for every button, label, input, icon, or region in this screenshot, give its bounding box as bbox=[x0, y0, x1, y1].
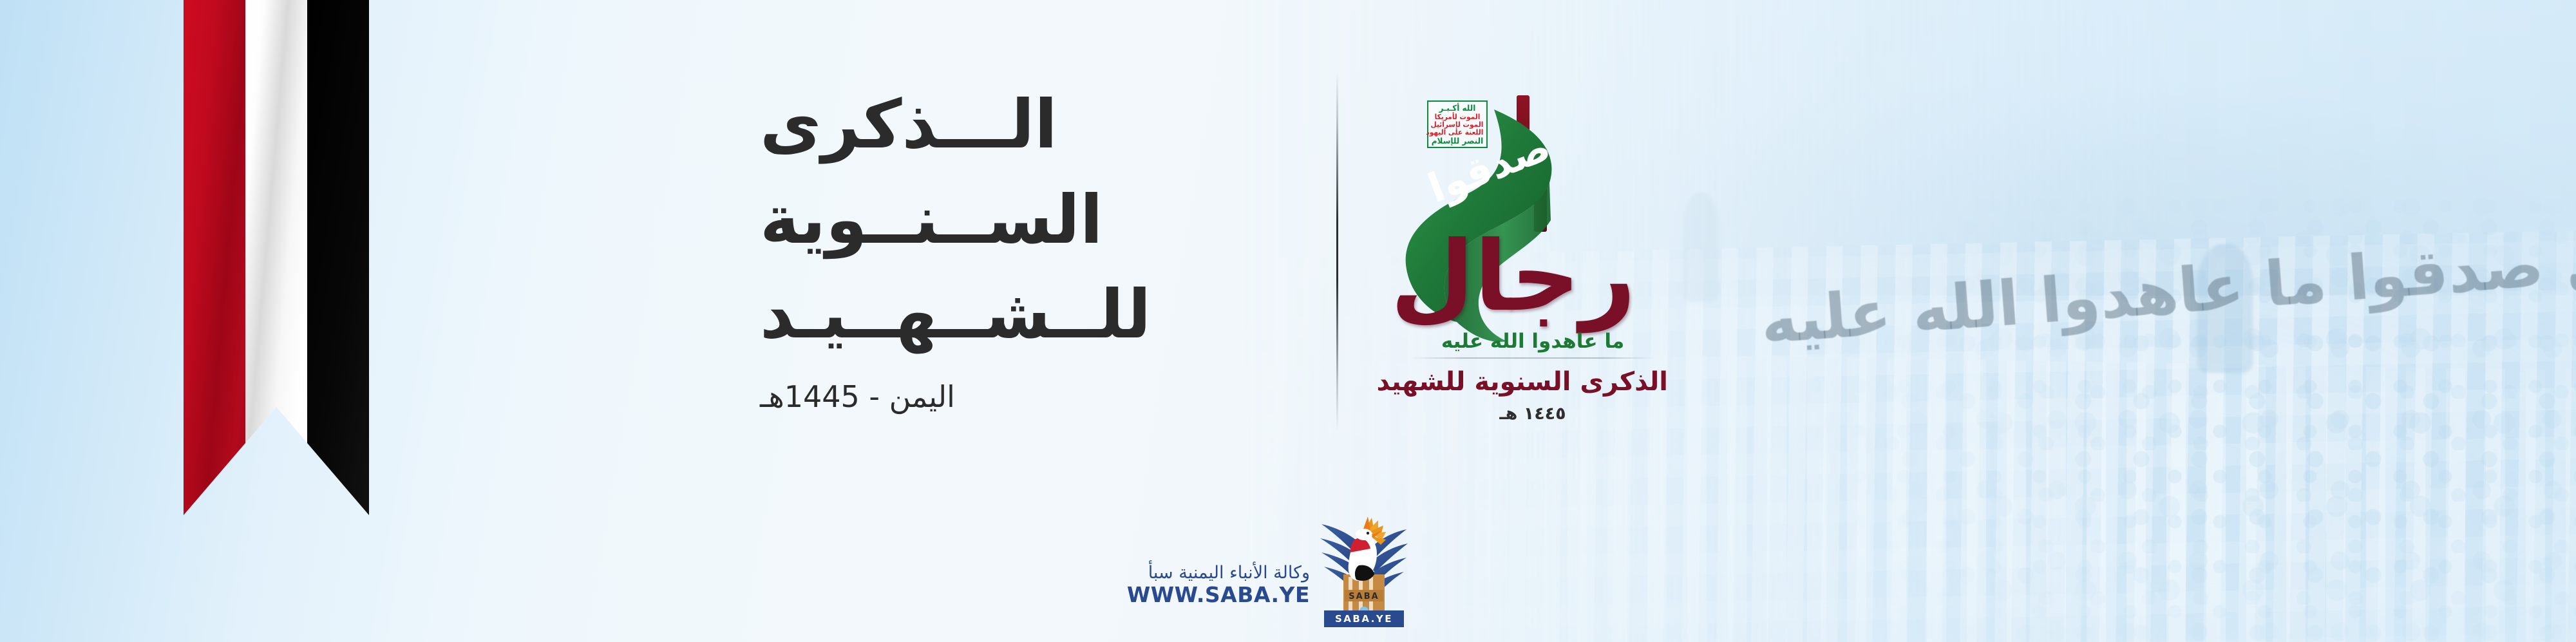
vertical-divider bbox=[1336, 71, 1338, 431]
saba-bird-mark-icon: SABA SABA.Y bbox=[1319, 513, 1409, 628]
headline-line-1: الـــذكرى bbox=[760, 77, 1288, 173]
flag-band-black bbox=[307, 0, 369, 515]
headline-line-3: للــشــهــيـد bbox=[760, 267, 1288, 363]
headline-subtitle: اليمن - 1445هـ bbox=[760, 379, 1288, 414]
headline-block: الـــذكرى الســنــوية للــشــهــيـد اليم… bbox=[760, 77, 1288, 414]
photo-foliage bbox=[1805, 193, 2576, 642]
emblem-title: الذكرى السنوية للشهيد bbox=[1397, 367, 1668, 397]
flag-band-white bbox=[245, 0, 307, 515]
emblem-year: ١٤٤٥ هـ bbox=[1397, 404, 1668, 424]
saba-agency-name: وكالة الأنباء اليمنية سبأ bbox=[1127, 563, 1310, 583]
emblem-divider-rule bbox=[1409, 357, 1656, 359]
yemen-flag-ribbon bbox=[184, 0, 369, 515]
rijal-sadaqu-emblem: الله أكـبـر الموت لأمريكا الموت لإسرائيل… bbox=[1391, 84, 1674, 425]
saba-url[interactable]: WWW.SABA.YE bbox=[1127, 583, 1310, 607]
photo-visitor-figure bbox=[2197, 244, 2253, 373]
saba-news-agency-logo[interactable]: SABA SABA.Y bbox=[1167, 513, 1409, 632]
emblem-wordmark: رجال bbox=[1404, 229, 1636, 325]
svg-text:SABA: SABA bbox=[1349, 592, 1379, 601]
commemorative-banner: رجال صدقوا ما عاهدوا الله عليه الـــذكرى… bbox=[0, 0, 2576, 642]
flag-band-red bbox=[184, 0, 245, 515]
emblem-tagline: ما عاهدوا الله عليه bbox=[1397, 330, 1668, 353]
headline-line-2: الســنــوية bbox=[760, 173, 1288, 268]
quran-verse-watermark: رجال صدقوا ما عاهدوا الله عليه bbox=[2005, 196, 2478, 377]
saba-badge: SABA.YE bbox=[1324, 610, 1404, 627]
saba-text-block: وكالة الأنباء اليمنية سبأ WWW.SABA.YE bbox=[1127, 513, 1310, 607]
photo-visitor-figure bbox=[1683, 193, 1718, 302]
